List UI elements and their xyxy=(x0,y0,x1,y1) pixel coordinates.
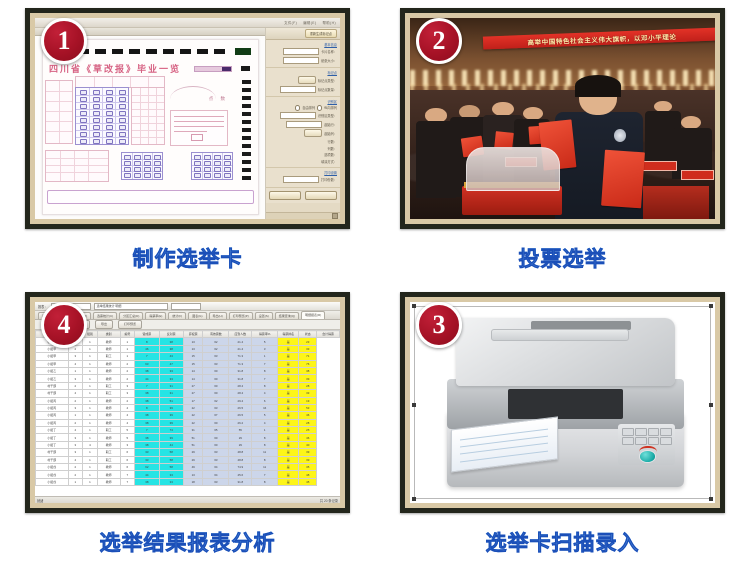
table-cell: 1 xyxy=(83,471,98,478)
table-cell: 60 xyxy=(203,375,229,382)
table-cell: 教师 xyxy=(97,419,120,426)
table-cell: 小组戊 xyxy=(36,464,69,471)
resize-grip-icon[interactable] xyxy=(332,213,338,219)
table-cell: 26.5 xyxy=(229,412,252,419)
scanner-output-tray xyxy=(491,329,629,341)
tab-vote-stats[interactable]: 选票统计(C) xyxy=(93,312,117,320)
report-label: 报表： xyxy=(38,304,48,309)
table-cell: 74 xyxy=(159,427,183,434)
selection-handle-br[interactable] xyxy=(709,497,713,501)
table-cell: 1 xyxy=(83,464,98,471)
footer-bar xyxy=(47,190,254,204)
info-table-left xyxy=(45,80,73,144)
table-cell: 31 xyxy=(183,427,203,434)
table-cell: 38 xyxy=(135,441,159,448)
panel-cell-4: 报表： 选举结果统计 明细 基本信息(A) 候选人名单(B) 选票统计(C) 分… xyxy=(0,284,375,568)
table-cell: 33 xyxy=(159,478,183,485)
table-cell: 村干部 xyxy=(36,390,69,397)
table-cell: 6 xyxy=(120,449,135,456)
selection-handle-mr[interactable] xyxy=(709,403,713,407)
table-cell: 46 xyxy=(299,434,317,441)
table-cell: 38 xyxy=(135,390,159,397)
field-row-count[interactable]: 行数： xyxy=(269,139,337,144)
block-mark-right xyxy=(241,66,250,71)
field-paper-size[interactable]: 纸张大小： xyxy=(269,57,337,64)
table-cell: 7 xyxy=(120,471,135,478)
table-cell: 是 xyxy=(278,478,299,485)
field-print-count[interactable]: 打印份数： xyxy=(269,176,337,183)
table-cell: 村干部 xyxy=(36,449,69,456)
table-cell: 55 xyxy=(229,427,252,434)
timing-marks-top xyxy=(61,49,228,54)
field-area-type[interactable]: 识别区类型： xyxy=(269,112,337,119)
table-cell: 教师 xyxy=(97,338,120,345)
table-cell: 53 xyxy=(299,404,317,411)
mark-count-label: 标记点数量： xyxy=(318,87,337,92)
table-cell: 44 xyxy=(159,441,183,448)
radio-free-label: 自由排列 xyxy=(302,105,315,110)
table-cell: 38 xyxy=(159,338,183,345)
scanner-start-button[interactable] xyxy=(639,450,656,463)
col-agree[interactable]: 赞成票 xyxy=(135,331,159,338)
table-cell: 1 xyxy=(83,412,98,419)
table-cell: 22 xyxy=(183,404,203,411)
table-cell: 8 xyxy=(135,404,159,411)
table-cell: 1 xyxy=(83,456,98,463)
table-row[interactable]: 村干部31职工63358296348.811是39 xyxy=(36,449,340,456)
print-count-input[interactable] xyxy=(283,176,319,183)
table-row[interactable]: 小组甲21教师14638136221.43是33 xyxy=(36,345,340,352)
table-cell: 63 xyxy=(203,449,229,456)
step-badge-4: 4 xyxy=(41,302,87,348)
table-cell: 48.8 xyxy=(229,449,252,456)
table-cell: 教师 xyxy=(97,345,120,352)
table-cell: 3 xyxy=(68,375,83,382)
table-cell: 1 xyxy=(83,434,98,441)
table-cell: 11 xyxy=(252,464,278,471)
table-cell: 51 xyxy=(159,397,183,404)
table-cell: 是 xyxy=(278,338,299,345)
table-cell: 是 xyxy=(278,345,299,352)
table-row[interactable]: 小组丙21教师23851176229.46是19 xyxy=(36,397,340,404)
table-cell: 4 xyxy=(120,412,135,419)
table-cell: 13 xyxy=(183,471,203,478)
table-cell: 38 xyxy=(135,478,159,485)
table-cell: 33 xyxy=(299,390,317,397)
table-cell: 小组丙 xyxy=(36,397,69,404)
table-cell: 33 xyxy=(159,471,183,478)
table-row[interactable]: 小组乙11教师23833146031.88是38 xyxy=(36,367,340,374)
col-total[interactable]: 合计得票 xyxy=(317,331,340,338)
table-cell: 是 xyxy=(278,375,299,382)
table-row[interactable]: 小组丁34教师338445160298是40 xyxy=(36,441,340,448)
table-cell: 1 xyxy=(83,360,98,367)
table-cell: 8 xyxy=(252,434,278,441)
area-type-label: 识别区类型： xyxy=(318,113,337,118)
tally-columns xyxy=(131,87,165,145)
panel-cell-1: 文件(F) 编辑(E) 帮助(H) 四川省《草改报》毕业一览 xyxy=(0,0,375,284)
report-select[interactable]: 选举结果统计 明细 xyxy=(94,303,168,310)
col-rank[interactable]: 得票排名 xyxy=(278,331,299,338)
table-row[interactable]: 小组甲41教师26347156371.37是76 xyxy=(36,360,340,367)
report-filter-select[interactable] xyxy=(171,303,201,310)
table-cell: 63 xyxy=(203,478,229,485)
restore-defaults-button[interactable] xyxy=(305,191,337,200)
fill-mode-label: 填涂方式： xyxy=(321,159,337,164)
bubble-grid-main[interactable] xyxy=(75,87,129,145)
field-start-row[interactable]: 起始行： xyxy=(269,121,337,128)
table-cell: 是 xyxy=(278,412,299,419)
table-cell: 51 xyxy=(183,441,203,448)
police-officer xyxy=(553,78,645,219)
field-option-count[interactable]: 选项数： xyxy=(269,152,337,157)
table-cell: 4 xyxy=(68,427,83,434)
table-cell: 43 xyxy=(159,353,183,360)
table-cell: 71 xyxy=(299,353,317,360)
table-cell: 8 xyxy=(135,338,159,345)
table-cell: 38 xyxy=(135,397,159,404)
col-abstain[interactable]: 弃权票 xyxy=(183,331,203,338)
table-cell: 1 xyxy=(68,367,83,374)
tab-vote-rate[interactable]: 得票率(E) xyxy=(145,312,166,320)
table-cell: 49 xyxy=(183,464,203,471)
table-cell: 是 xyxy=(278,427,299,434)
tab-district-summary[interactable]: 分区汇总(D) xyxy=(119,312,143,320)
step-badge-2: 2 xyxy=(416,18,462,64)
table-cell: 11 xyxy=(252,449,278,456)
table-cell: 3 xyxy=(120,390,135,397)
table-cell: 职工 xyxy=(97,382,120,389)
table-cell: 6 xyxy=(252,397,278,404)
instruction-box xyxy=(170,110,228,146)
table-cell: 47 xyxy=(159,360,183,367)
table-cell: 63 xyxy=(135,360,159,367)
table-cell: 46 xyxy=(135,345,159,352)
table-cell: 小组甲 xyxy=(36,360,69,367)
table-cell: 19 xyxy=(299,397,317,404)
table-cell: 22 xyxy=(183,419,203,426)
table-row[interactable]: 小组戊21教师74433136445.67是48 xyxy=(36,471,340,478)
menu-item-file[interactable]: 文件(F) xyxy=(284,20,297,25)
table-cell: 58 xyxy=(159,464,183,471)
table-cell: 33 xyxy=(135,456,159,463)
table-cell: 38 xyxy=(159,345,183,352)
table-cell: 60 xyxy=(203,390,229,397)
table-cell: 7 xyxy=(120,478,135,485)
table-cell: 教师 xyxy=(97,367,120,374)
ballot-box-lid xyxy=(466,147,561,191)
table-cell: 教师 xyxy=(97,434,120,441)
table-cell: 15 xyxy=(183,353,203,360)
control-button[interactable] xyxy=(648,428,660,436)
table-cell: 4 xyxy=(252,390,278,397)
table-cell: 2 xyxy=(120,367,135,374)
col-oppose[interactable]: 反对票 xyxy=(159,331,183,338)
scanner-control-panel[interactable] xyxy=(618,424,675,465)
tab-print-preview[interactable]: 打印预览(P) xyxy=(229,312,253,320)
table-cell: 14 xyxy=(183,375,203,382)
table-cell: 8 xyxy=(252,478,278,485)
table-cell: 教师 xyxy=(97,412,120,419)
table-cell: 28.4 xyxy=(229,390,252,397)
mark-count-input[interactable] xyxy=(280,86,316,93)
table-cell: 1 xyxy=(252,427,278,434)
photo-frame-2: 高举中国特色社会主义伟大旗帜，以邓小平理论 xyxy=(400,8,725,229)
table-cell: 33 xyxy=(299,345,317,352)
table-row[interactable]: 村干部41职工33831276028.44是33 xyxy=(36,390,340,397)
table-cell: 教师 xyxy=(97,397,120,404)
export-button[interactable]: 导出 xyxy=(95,320,113,329)
table-cell: 村干部 xyxy=(36,456,69,463)
table-body: 小组甲11教师1838136221.45是23小组甲21教师1463813622… xyxy=(36,338,340,486)
table-cell: 29 xyxy=(183,449,203,456)
table-row[interactable]: 小组丙31教师4839226326.516是53 xyxy=(36,404,340,411)
col-vote-rate[interactable]: 得票率% xyxy=(252,331,278,338)
property-panel[interactable]: 重新生成标记点 基本信息 卡片名称： 纸张大小： xyxy=(266,28,340,219)
ballot-card-page[interactable]: 四川省《草改报》毕业一览 xyxy=(42,39,259,215)
table-cell: 1 xyxy=(83,338,98,345)
table-cell: 1 xyxy=(83,397,98,404)
step-badge-1: 1 xyxy=(41,18,87,64)
area-type-input[interactable] xyxy=(280,112,316,119)
table-row[interactable]: 小组丙11教师43839226726.55是46 xyxy=(36,412,340,419)
control-button[interactable] xyxy=(648,437,660,445)
table-cell: 小组丁 xyxy=(36,427,69,434)
field-fill-mode[interactable]: 填涂方式： xyxy=(269,159,337,164)
option-count-label: 选项数： xyxy=(324,152,337,157)
table-cell: 是 xyxy=(278,353,299,360)
col-valid-votes[interactable]: 有效票数 xyxy=(203,331,229,338)
apply-settings-button[interactable] xyxy=(269,191,301,200)
card-name-label: 卡片名称： xyxy=(321,49,337,54)
table-row[interactable]: 小组丁41职工57743165551是25 xyxy=(36,427,340,434)
selection-handle-ml[interactable] xyxy=(412,403,416,407)
table-cell: 44 xyxy=(135,375,159,382)
table-row[interactable]: 村干部21职工3731276028.48是28 xyxy=(36,382,340,389)
table-cell: 39 xyxy=(299,456,317,463)
table-row[interactable]: 小组甲31职工1743156371.31是71 xyxy=(36,353,340,360)
table-cell: 60 xyxy=(203,441,229,448)
status-text-left: 就绪 xyxy=(37,498,43,503)
status-text-right: 共 20 条记录 xyxy=(320,498,338,503)
table-cell: 65 xyxy=(203,427,229,434)
table-cell: 29 xyxy=(229,434,252,441)
table-cell: 职工 xyxy=(97,449,120,456)
table-cell: 职工 xyxy=(97,427,120,434)
table-cell: 26.5 xyxy=(229,404,252,411)
table-cell: 27 xyxy=(183,382,203,389)
section-title-area: 识别区 xyxy=(269,99,337,104)
table-cell: 7 xyxy=(252,375,278,382)
section-title-marks: 标记点 xyxy=(269,70,337,75)
card-name-input[interactable] xyxy=(283,48,319,55)
table-cell: 74.9 xyxy=(229,464,252,471)
table-cell: 13 xyxy=(183,345,203,352)
table-cell: 2 xyxy=(68,471,83,478)
officer-hair xyxy=(575,75,621,96)
point-label: 点 数 xyxy=(209,96,228,102)
bubble-grid-lower-right[interactable] xyxy=(191,152,233,180)
table-cell: 62 xyxy=(203,397,229,404)
field-mark-type[interactable]: 标记点类型： xyxy=(269,76,337,84)
report-status-bar: 就绪 共 20 条记录 xyxy=(35,496,340,503)
table-row[interactable]: 小组丁31教师538395160298是46 xyxy=(36,434,340,441)
paper-size-input[interactable] xyxy=(283,57,319,64)
desk-nameplate xyxy=(642,161,678,171)
bubble-grid-lower-left[interactable] xyxy=(121,152,163,180)
table-cell: 62 xyxy=(135,464,159,471)
table-cell: 3 xyxy=(120,382,135,389)
selection-handle-bl[interactable] xyxy=(412,497,416,501)
menu-item-help[interactable]: 帮助(H) xyxy=(323,20,337,25)
table-cell: 35 xyxy=(299,464,317,471)
table-cell: 31 xyxy=(159,382,183,389)
field-start-col[interactable]: 起始列： xyxy=(269,129,337,137)
table-cell: 38 xyxy=(135,367,159,374)
table-cell: 1 xyxy=(252,353,278,360)
table-cell: 21.4 xyxy=(229,345,252,352)
table-cell: 62 xyxy=(203,338,229,345)
officer-folder xyxy=(601,150,645,209)
table-cell: 是 xyxy=(278,434,299,441)
selection-handle-tr[interactable] xyxy=(709,304,713,308)
table-row[interactable]: 小组丙21教师43839226026.24是28 xyxy=(36,419,340,426)
control-button[interactable] xyxy=(635,437,647,445)
table-cell: 是 xyxy=(278,367,299,374)
table-cell: 小组丙 xyxy=(36,404,69,411)
table-cell: 教师 xyxy=(97,441,120,448)
radio-vertical-label: 纵向排列 xyxy=(324,105,337,110)
section-recognition-area: 识别区 自由排列 纵向排列 识别区类型： xyxy=(266,97,340,168)
tab-chart[interactable]: 图表(G) xyxy=(188,312,206,320)
table-cell: 25 xyxy=(299,427,317,434)
menu-item-edit[interactable]: 编辑(E) xyxy=(303,20,316,25)
card-title: 四川省《草改报》毕业一览 xyxy=(49,62,181,75)
tab-statistics[interactable]: 统计(F) xyxy=(168,312,186,320)
control-button[interactable] xyxy=(622,428,634,436)
table-cell: 1 xyxy=(120,345,135,352)
tab-settings[interactable]: 设置(S) xyxy=(255,312,273,320)
table-cell: 7 xyxy=(252,471,278,478)
table-row[interactable]: 村干部41职工63358296348.88是39 xyxy=(36,456,340,463)
table-cell: 14 xyxy=(183,367,203,374)
table-cell: 小组乙 xyxy=(36,375,69,382)
table-cell: 小组甲 xyxy=(36,353,69,360)
table-cell: 63 xyxy=(203,404,229,411)
table-cell: 58 xyxy=(159,456,183,463)
table-cell: 3 xyxy=(68,404,83,411)
col-category[interactable]: 类别 xyxy=(97,331,120,338)
regenerate-marks-button[interactable]: 重新生成标记点 xyxy=(305,29,337,38)
table-cell: 小组丁 xyxy=(36,441,69,448)
mark-type-select[interactable] xyxy=(298,76,316,84)
table-cell: 1 xyxy=(120,353,135,360)
density-slider[interactable] xyxy=(194,66,232,72)
table-cell: 29 xyxy=(183,456,203,463)
table-cell: 是 xyxy=(278,456,299,463)
report-data-grid[interactable]: 选区 序号 组别 类别 编号 赞成票 反对票 弃权票 有效票数 应到人数 xyxy=(35,330,340,496)
table-cell: 45 xyxy=(299,478,317,485)
tab-detail-report[interactable]: 明细报表(R) xyxy=(301,311,325,320)
table-cell: 1 xyxy=(68,412,83,419)
start-col-select[interactable] xyxy=(304,129,322,137)
table-cell: 教师 xyxy=(97,464,120,471)
delegate-head xyxy=(492,102,513,116)
table-cell: 职工 xyxy=(97,353,120,360)
table-cell: 4 xyxy=(83,441,98,448)
frame-mat-2: 高举中国特色社会主义伟大旗帜，以邓小平理论 xyxy=(405,13,720,224)
table-cell: 51 xyxy=(183,434,203,441)
control-button[interactable] xyxy=(660,437,672,445)
table-cell: 5 xyxy=(120,427,135,434)
tab-result-query[interactable]: 结果查询(Q) xyxy=(275,312,299,320)
table-cell: 31.8 xyxy=(229,375,252,382)
table-cell: 1 xyxy=(83,375,98,382)
table-cell: 5 xyxy=(120,434,135,441)
field-mark-count[interactable]: 标记点数量： xyxy=(269,86,337,93)
print-preview-button[interactable]: 打印预览 xyxy=(118,320,142,329)
report-select-value: 选举结果统计 明细 xyxy=(97,304,122,308)
table-cell: 15 xyxy=(183,360,203,367)
table-cell: 1 xyxy=(83,382,98,389)
table-row[interactable]: 小组乙31教师24433146031.87是39 xyxy=(36,375,340,382)
control-button[interactable] xyxy=(660,428,672,436)
table-cell: 2 xyxy=(120,375,135,382)
table-cell: 45.6 xyxy=(229,471,252,478)
control-button[interactable] xyxy=(622,437,634,445)
table-cell: 13 xyxy=(183,338,203,345)
col-expected[interactable]: 应到人数 xyxy=(229,331,252,338)
section-print: 打印设置 打印份数： xyxy=(266,168,340,188)
table-row[interactable]: 小组戊21教师66258496474.911是35 xyxy=(36,464,340,471)
property-panel-resize-bar[interactable] xyxy=(266,212,340,219)
table-cell: 6 xyxy=(120,464,135,471)
table-cell: 31.8 xyxy=(229,367,252,374)
table-cell: 4 xyxy=(252,419,278,426)
control-button[interactable] xyxy=(635,428,647,436)
table-cell: 27 xyxy=(183,390,203,397)
table-cell: 2 xyxy=(68,382,83,389)
table-cell: 小组戊 xyxy=(36,478,69,485)
table-cell: 小组乙 xyxy=(36,367,69,374)
table-cell: 4 xyxy=(68,456,83,463)
field-card-name[interactable]: 卡片名称： xyxy=(269,48,337,55)
table-cell: 6 xyxy=(120,456,135,463)
paper-size-label: 纸张大小： xyxy=(321,58,337,63)
radio-free-icon[interactable] xyxy=(295,105,300,110)
table-cell: 8 xyxy=(252,456,278,463)
table-cell: 63 xyxy=(203,456,229,463)
col-number[interactable]: 编号 xyxy=(120,331,135,338)
table-cell: 1 xyxy=(83,367,98,374)
radio-group-layout[interactable]: 自由排列 纵向排列 xyxy=(269,105,337,110)
start-row-input[interactable] xyxy=(286,121,322,128)
radio-vertical-icon[interactable] xyxy=(317,105,322,110)
table-cell: 29 xyxy=(229,441,252,448)
table-cell: 8 xyxy=(252,367,278,374)
table-cell: 是 xyxy=(278,441,299,448)
tab-export[interactable]: 导出(H) xyxy=(209,312,227,320)
table-row[interactable]: 小组戊11教师73833186331.88是45 xyxy=(36,478,340,485)
field-col-count[interactable]: 列数： xyxy=(269,146,337,151)
table-cell: 是 xyxy=(278,464,299,471)
table-cell: 职工 xyxy=(97,456,120,463)
col-status[interactable]: 状态 xyxy=(299,331,317,338)
col-count-label: 列数： xyxy=(327,146,337,151)
panel-cell-3: 3 选举卡扫描录入 xyxy=(375,284,750,568)
table-cell: 62 xyxy=(203,345,229,352)
selection-handle-tl[interactable] xyxy=(412,304,416,308)
